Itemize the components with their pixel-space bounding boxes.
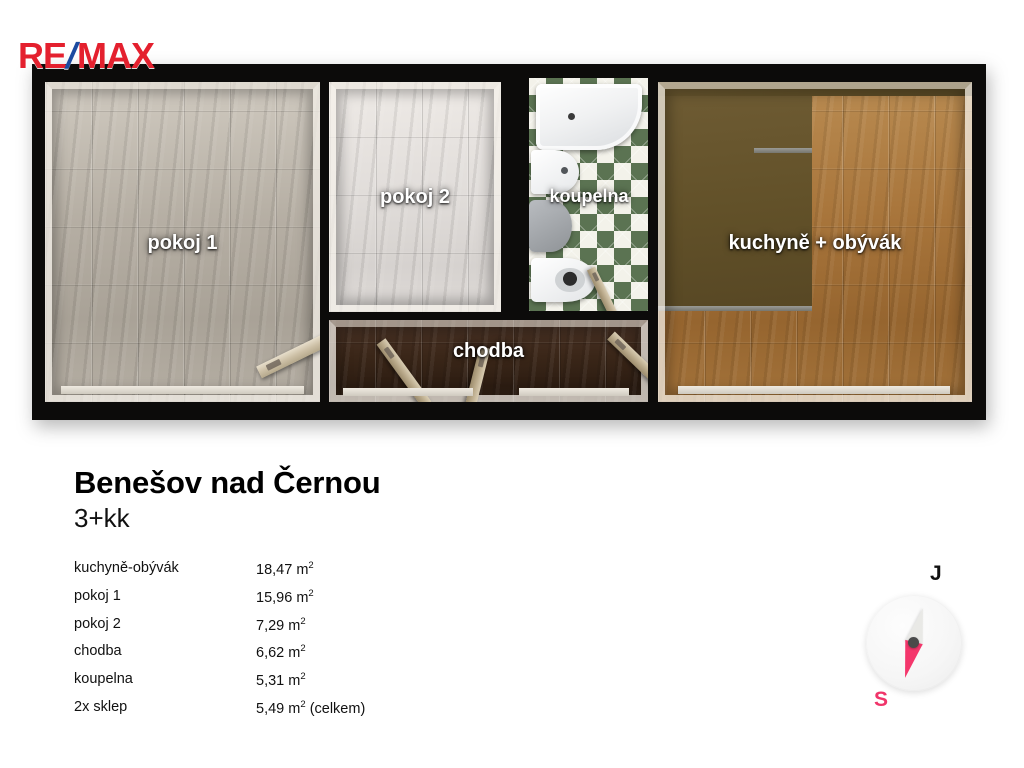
area-number: 5,49 <box>256 701 284 717</box>
area-exponent: 2 <box>308 588 313 599</box>
toilet <box>531 258 595 302</box>
area-name: pokoj 2 <box>74 616 256 644</box>
compass-rose <box>866 595 962 691</box>
threshold-chodba-right <box>519 388 629 396</box>
table-row: 2x sklep 5,49 m2 (celkem) <box>74 699 365 727</box>
table-row: koupelna 5,31 m2 <box>74 671 365 699</box>
area-number: 18,47 <box>256 562 292 578</box>
area-exponent: 2 <box>300 616 305 627</box>
area-value: 15,96 m2 <box>256 588 365 616</box>
area-name: 2x sklep <box>74 699 256 727</box>
room-pokoj-2 <box>329 82 501 312</box>
compass-label-north-top: J <box>930 562 942 586</box>
room-chodba <box>329 320 648 402</box>
floor-texture-pokoj-1 <box>45 82 320 402</box>
sink <box>531 150 579 194</box>
compass-hub <box>908 637 919 648</box>
listing-caption: Benešov nad Černou 3+kk <box>74 466 380 534</box>
floor-texture-pokoj-2 <box>329 82 501 312</box>
kitchen-counter-top-band <box>658 82 972 96</box>
area-number: 15,96 <box>256 590 292 606</box>
area-unit: m <box>288 673 300 689</box>
room-kuchyne-obyvak <box>658 82 972 402</box>
area-name: chodba <box>74 643 256 671</box>
listing-layout: 3+kk <box>74 503 380 534</box>
counter-lip-lower <box>658 306 812 311</box>
area-value: 6,62 m2 <box>256 643 365 671</box>
area-exponent: 2 <box>300 671 305 682</box>
table-row: chodba 6,62 m2 <box>74 643 365 671</box>
room-pokoj-1 <box>45 82 320 402</box>
area-exponent: 2 <box>300 699 305 710</box>
kitchen-counter-alcove <box>658 82 812 310</box>
area-unit: m <box>288 701 300 717</box>
room-koupelna <box>529 78 648 311</box>
area-number: 7,29 <box>256 617 284 633</box>
area-unit: m <box>288 645 300 661</box>
area-unit: m <box>296 562 308 578</box>
table-row: kuchyně-obývák 18,47 m2 <box>74 560 365 588</box>
threshold-kuchyne <box>678 386 950 394</box>
area-unit: m <box>296 590 308 606</box>
washing-machine <box>529 200 572 252</box>
counter-lip-upper <box>754 148 812 153</box>
area-name: kuchyně-obývák <box>74 560 256 588</box>
floorplan-image: pokoj 1 pokoj 2 koupelna chodba kuchyně … <box>32 64 986 420</box>
area-note: (celkem) <box>310 701 366 717</box>
area-exponent: 2 <box>300 643 305 654</box>
area-number: 5,31 <box>256 673 284 689</box>
threshold-pokoj-1 <box>61 386 304 394</box>
area-name: pokoj 1 <box>74 588 256 616</box>
area-exponent: 2 <box>308 560 313 571</box>
area-value: 5,49 m2 (celkem) <box>256 699 365 727</box>
table-row: pokoj 1 15,96 m2 <box>74 588 365 616</box>
logo-text-re: RE <box>18 35 66 76</box>
area-table: kuchyně-obývák 18,47 m2 pokoj 1 15,96 m2… <box>74 560 365 727</box>
floorplan-frame: pokoj 1 pokoj 2 koupelna chodba kuchyně … <box>32 64 986 420</box>
area-name: koupelna <box>74 671 256 699</box>
area-value: 7,29 m2 <box>256 616 365 644</box>
compass-label-south-bottom: S <box>874 688 888 712</box>
page-title: Benešov nad Černou <box>74 466 380 501</box>
table-row: pokoj 2 7,29 m2 <box>74 616 365 644</box>
area-value: 18,47 m2 <box>256 560 365 588</box>
area-value: 5,31 m2 <box>256 671 365 699</box>
threshold-chodba-left <box>343 388 473 396</box>
area-unit: m <box>288 617 300 633</box>
logo-text-max: MAX <box>77 35 154 76</box>
remax-logo: RE/MAX <box>18 38 154 74</box>
area-number: 6,62 <box>256 645 284 661</box>
